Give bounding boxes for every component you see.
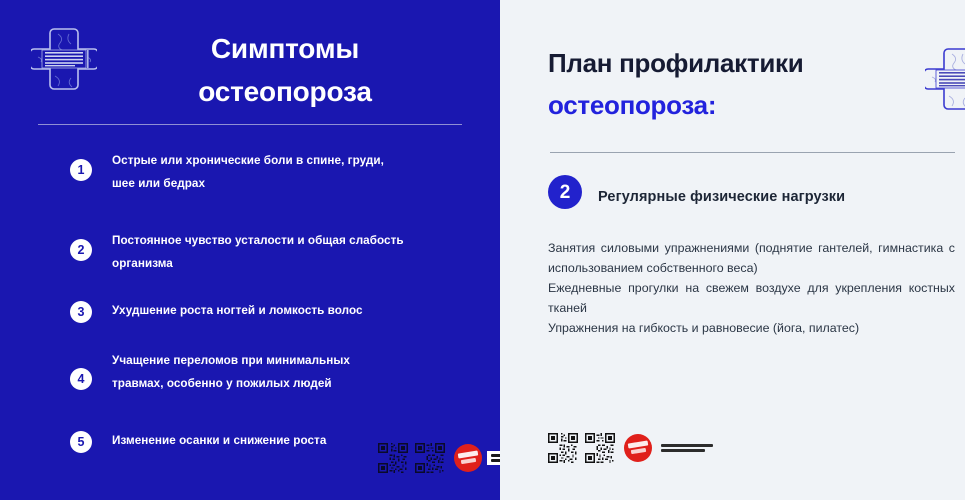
qr-code[interactable] xyxy=(548,433,578,463)
qr-code[interactable] xyxy=(585,433,615,463)
body-paragraph: Занятия силовыми упражнениями (поднятие … xyxy=(548,238,955,278)
right-title-line-1: План профилактики xyxy=(548,42,908,84)
slide-root: Симптомы остеопороза 1 Острые или хронич… xyxy=(0,0,965,500)
list-item: 2 Постоянное чувство усталости и общая с… xyxy=(70,230,404,276)
item-text: Учащение переломов при минимальных травм… xyxy=(112,350,350,396)
qr-code[interactable] xyxy=(378,443,408,473)
badge-group-right xyxy=(548,433,717,463)
item-number-badge: 4 xyxy=(70,368,92,390)
item-text-line-1: Постоянное чувство усталости и общая сла… xyxy=(112,230,404,253)
item-text-line-2: шее или бедрах xyxy=(112,173,384,196)
left-title-line-2: остеопороза xyxy=(198,76,371,107)
stamp-caption xyxy=(657,441,717,455)
left-title-line-1: Симптомы xyxy=(211,33,359,64)
left-title: Симптомы остеопороза xyxy=(120,28,450,113)
item-text-line-2: травмах, особенно у пожилых людей xyxy=(112,373,350,396)
medical-cross-logo xyxy=(31,26,97,92)
prevention-section-header: 2 Регулярные физические нагрузки xyxy=(548,175,845,209)
list-item: 4 Учащение переломов при минимальных тра… xyxy=(70,350,350,396)
section-heading: Регулярные физические нагрузки xyxy=(598,189,845,205)
qr-code[interactable] xyxy=(415,443,445,473)
item-number-badge: 3 xyxy=(70,301,92,323)
left-panel: Симптомы остеопороза 1 Острые или хронич… xyxy=(0,0,500,500)
item-text: Ухудшение роста ногтей и ломкость волос xyxy=(112,300,363,323)
list-item: 3 Ухудшение роста ногтей и ломкость воло… xyxy=(70,300,363,323)
stamp-caption-line xyxy=(661,444,713,447)
item-text: Постоянное чувство усталости и общая сла… xyxy=(112,230,404,276)
body-paragraph: Ежедневные прогулки на свежем воздухе дл… xyxy=(548,278,955,318)
right-title-line-2: остеопороза: xyxy=(548,84,908,126)
body-paragraph: Упражнения на гибкость и равновесие (йог… xyxy=(548,318,955,338)
section-number-badge: 2 xyxy=(548,175,582,209)
stamp-script-underline xyxy=(631,448,646,454)
item-text-line-1: Учащение переломов при минимальных xyxy=(112,350,350,373)
stamp-script-underline xyxy=(461,458,476,464)
left-divider xyxy=(38,124,462,125)
item-number-badge: 2 xyxy=(70,239,92,261)
list-item: 5 Изменение осанки и снижение роста xyxy=(70,430,326,453)
red-round-stamp[interactable] xyxy=(624,434,717,462)
item-text-line-1: Изменение осанки и снижение роста xyxy=(112,430,326,453)
item-text-line-1: Острые или хронические боли в спине, гру… xyxy=(112,150,384,173)
right-divider xyxy=(550,152,955,153)
stamp-caption-line xyxy=(661,449,705,452)
stamp-circle-icon xyxy=(454,444,482,472)
list-item: 1 Острые или хронические боли в спине, г… xyxy=(70,150,384,196)
item-text-line-1: Ухудшение роста ногтей и ломкость волос xyxy=(112,300,363,323)
medical-cross-logo xyxy=(925,46,965,112)
stamp-circle-icon xyxy=(624,434,652,462)
right-title: План профилактики остеопороза: xyxy=(548,42,908,127)
item-text-line-2: организма xyxy=(112,253,404,276)
item-text: Острые или хронические боли в спине, гру… xyxy=(112,150,384,196)
item-text: Изменение осанки и снижение роста xyxy=(112,430,326,453)
prevention-body: Занятия силовыми упражнениями (поднятие … xyxy=(548,238,955,338)
item-number-badge: 5 xyxy=(70,431,92,453)
item-number-badge: 1 xyxy=(70,159,92,181)
